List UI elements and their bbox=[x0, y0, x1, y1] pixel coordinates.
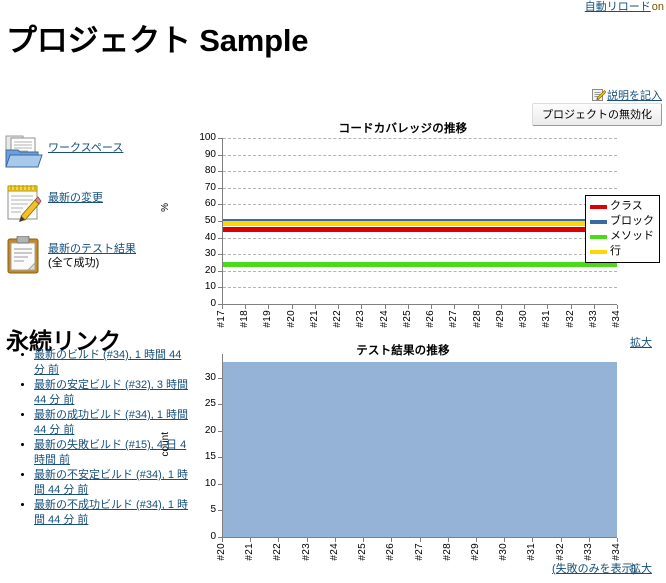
x-tick bbox=[278, 538, 279, 542]
pencil-edit-icon bbox=[592, 88, 606, 102]
x-tick bbox=[594, 305, 595, 309]
y-tick bbox=[218, 138, 222, 139]
x-tick bbox=[222, 305, 223, 309]
x-tick-label: #31 bbox=[526, 543, 537, 561]
x-tick bbox=[524, 305, 525, 309]
x-tick-label: #34 bbox=[611, 310, 622, 328]
legend-swatch-icon bbox=[590, 235, 607, 239]
auto-refresh-state: on bbox=[651, 1, 664, 13]
legend-label: ブロック bbox=[610, 214, 654, 229]
sidebar-item-recent-changes[interactable]: 最新の変更 bbox=[0, 183, 178, 228]
gridline bbox=[223, 171, 617, 172]
gridline bbox=[223, 238, 617, 239]
y-tick-label: 20 bbox=[182, 266, 216, 276]
x-tick bbox=[589, 538, 590, 542]
y-tick bbox=[218, 484, 222, 485]
recent-changes-link[interactable]: 最新の変更 bbox=[48, 192, 103, 204]
y-tick-label: 5 bbox=[182, 505, 216, 515]
y-axis-label: % bbox=[160, 203, 171, 212]
line-series-クラス bbox=[223, 227, 617, 232]
x-tick-label: #24 bbox=[379, 310, 390, 328]
x-tick bbox=[476, 538, 477, 542]
y-tick bbox=[218, 188, 222, 189]
list-item[interactable]: 最新のビルド (#34), 1 時間 44 分 前 bbox=[34, 348, 194, 377]
legend-item: メソッド bbox=[590, 229, 654, 244]
show-failures-only-link[interactable]: (失敗のみを表示) bbox=[552, 560, 636, 576]
y-tick-label: 90 bbox=[182, 150, 216, 160]
x-tick bbox=[335, 538, 336, 542]
x-tick-label: #29 bbox=[470, 543, 481, 561]
x-tick-label: #23 bbox=[301, 543, 312, 561]
x-tick-label: #31 bbox=[541, 310, 552, 328]
y-tick bbox=[218, 221, 222, 222]
y-tick bbox=[218, 271, 222, 272]
y-tick bbox=[218, 155, 222, 156]
gridline bbox=[223, 271, 617, 272]
x-tick-label: #18 bbox=[239, 310, 250, 328]
x-tick bbox=[363, 538, 364, 542]
x-tick bbox=[561, 538, 562, 542]
x-tick bbox=[361, 305, 362, 309]
x-tick-label: #25 bbox=[357, 543, 368, 561]
legend-label: メソッド bbox=[610, 229, 654, 244]
x-tick bbox=[385, 305, 386, 309]
test-result-enlarge-link[interactable]: 拡大 bbox=[630, 560, 652, 576]
x-tick bbox=[315, 305, 316, 309]
y-tick bbox=[218, 378, 222, 379]
legend-item: クラス bbox=[590, 199, 654, 214]
x-tick-label: #26 bbox=[385, 543, 396, 561]
y-tick-label: 15 bbox=[182, 452, 216, 462]
page-title: プロジェクト Sample bbox=[6, 22, 308, 60]
chart-legend: クラスブロックメソッド行 bbox=[585, 195, 660, 263]
edit-description-link[interactable]: 説明を記入 bbox=[607, 90, 662, 102]
y-tick-label: 10 bbox=[182, 282, 216, 292]
y-tick-label: 0 bbox=[182, 299, 216, 309]
x-tick bbox=[307, 538, 308, 542]
x-tick bbox=[292, 305, 293, 309]
gridline bbox=[223, 138, 617, 139]
x-tick-label: #24 bbox=[329, 543, 340, 561]
x-tick-label: #26 bbox=[425, 310, 436, 328]
area-series-count bbox=[223, 362, 617, 537]
list-item[interactable]: 最新の安定ビルド (#32), 3 時間 44 分 前 bbox=[34, 378, 194, 407]
y-tick-label: 25 bbox=[182, 399, 216, 409]
x-tick bbox=[338, 305, 339, 309]
gridline bbox=[223, 155, 617, 156]
permalink-last-stable-build[interactable]: 最新の安定ビルド (#32), 3 時間 44 分 前 bbox=[34, 379, 188, 406]
x-tick bbox=[250, 538, 251, 542]
legend-label: 行 bbox=[610, 244, 621, 259]
x-tick bbox=[617, 305, 618, 309]
y-tick-label: 0 bbox=[182, 532, 216, 542]
y-tick bbox=[218, 510, 222, 511]
x-tick bbox=[391, 538, 392, 542]
clipboard-icon bbox=[0, 234, 48, 281]
y-tick-label: 10 bbox=[182, 479, 216, 489]
gridline bbox=[223, 204, 617, 205]
legend-item: ブロック bbox=[590, 214, 654, 229]
project-dashboard-page: 自動リロードon プロジェクト Sample 説明を記入 プロジェクトの無効化 bbox=[0, 0, 666, 583]
x-tick-label: #34 bbox=[611, 543, 622, 561]
x-tick bbox=[268, 305, 269, 309]
list-item[interactable]: 最新の不安定ビルド (#34), 1 時間 44 分 前 bbox=[34, 468, 194, 497]
x-tick bbox=[431, 305, 432, 309]
x-tick-label: #21 bbox=[309, 310, 320, 328]
x-tick-label: #33 bbox=[588, 310, 599, 328]
x-tick-label: #21 bbox=[244, 543, 255, 561]
x-tick bbox=[617, 538, 618, 542]
sidebar-item-recent-changes-text: 最新の変更 bbox=[48, 183, 152, 205]
x-tick bbox=[547, 305, 548, 309]
x-tick bbox=[478, 305, 479, 309]
line-series-メソッド bbox=[223, 262, 617, 267]
y-tick bbox=[218, 404, 222, 405]
x-tick-label: #19 bbox=[262, 310, 273, 328]
x-tick-label: #20 bbox=[216, 543, 227, 561]
x-tick-label: #32 bbox=[555, 543, 566, 561]
edit-description-link-wrap: 説明を記入 bbox=[592, 88, 662, 103]
y-tick-label: 100 bbox=[182, 133, 216, 143]
y-tick-label: 50 bbox=[182, 216, 216, 226]
legend-label: クラス bbox=[610, 199, 643, 214]
list-item[interactable]: 最新の不成功ビルド (#34), 1 時間 44 分 前 bbox=[34, 498, 194, 527]
y-tick bbox=[218, 204, 222, 205]
y-tick-label: 40 bbox=[182, 233, 216, 243]
sidebar-tasks: ワークスペース bbox=[0, 133, 178, 287]
y-tick-label: 30 bbox=[182, 249, 216, 259]
y-tick bbox=[218, 457, 222, 458]
x-tick-label: #30 bbox=[498, 543, 509, 561]
auto-refresh-control: 自動リロードon bbox=[585, 1, 664, 13]
x-tick bbox=[408, 305, 409, 309]
y-tick-label: 70 bbox=[182, 183, 216, 193]
latest-test-result-link[interactable]: 最新のテスト結果 bbox=[48, 243, 136, 255]
line-series-行 bbox=[223, 221, 617, 226]
coverage-trend-chart[interactable]: コードカバレッジの推移 0102030405060708090100#17#18… bbox=[180, 120, 666, 335]
x-tick-label: #30 bbox=[518, 310, 529, 328]
y-tick bbox=[218, 431, 222, 432]
x-tick-label: #22 bbox=[272, 543, 283, 561]
y-tick-label: 30 bbox=[182, 373, 216, 383]
test-result-trend-chart[interactable]: テスト結果の推移 051015202530#20#21#22#23#24#25#… bbox=[180, 342, 666, 557]
x-tick-label: #27 bbox=[448, 310, 459, 328]
sidebar-item-latest-test-result-text: 最新のテスト結果 (全て成功) bbox=[48, 234, 152, 270]
folder-documents-icon bbox=[0, 133, 48, 176]
y-tick bbox=[218, 254, 222, 255]
x-tick bbox=[501, 305, 502, 309]
x-tick bbox=[571, 305, 572, 309]
workspace-link[interactable]: ワークスペース bbox=[48, 142, 123, 154]
y-tick bbox=[218, 287, 222, 288]
permalink-last-build[interactable]: 最新のビルド (#34), 1 時間 44 分 前 bbox=[34, 349, 181, 376]
permalink-last-unstable-build[interactable]: 最新の不安定ビルド (#34), 1 時間 44 分 前 bbox=[34, 469, 188, 496]
x-tick bbox=[420, 538, 421, 542]
x-tick bbox=[222, 538, 223, 542]
x-tick-label: #17 bbox=[216, 310, 227, 328]
sidebar-item-workspace[interactable]: ワークスペース bbox=[0, 133, 178, 177]
x-tick bbox=[245, 305, 246, 309]
legend-swatch-icon bbox=[590, 250, 607, 254]
x-tick-label: #20 bbox=[286, 310, 297, 328]
x-tick bbox=[448, 538, 449, 542]
x-tick bbox=[454, 305, 455, 309]
sidebar-item-workspace-text: ワークスペース bbox=[48, 133, 152, 155]
x-tick bbox=[532, 538, 533, 542]
gridline bbox=[223, 254, 617, 255]
y-tick bbox=[218, 238, 222, 239]
x-tick-label: #33 bbox=[583, 543, 594, 561]
y-axis-label: count bbox=[160, 432, 171, 456]
permalink-last-unsuccessful-build[interactable]: 最新の不成功ビルド (#34), 1 時間 44 分 前 bbox=[34, 499, 188, 526]
gridline bbox=[223, 287, 617, 288]
y-tick bbox=[218, 171, 222, 172]
x-tick-label: #25 bbox=[402, 310, 413, 328]
x-tick-label: #28 bbox=[442, 543, 453, 561]
x-tick-label: #23 bbox=[355, 310, 366, 328]
legend-item: 行 bbox=[590, 244, 654, 259]
x-axis-line bbox=[222, 304, 617, 305]
sidebar-item-latest-test-result[interactable]: 最新のテスト結果 (全て成功) bbox=[0, 234, 178, 281]
x-tick-label: #27 bbox=[414, 543, 425, 561]
notepad-pencil-icon bbox=[0, 183, 48, 228]
chart-plot-area: 051015202530#20#21#22#23#24#25#26#27#28#… bbox=[180, 342, 666, 557]
gridline bbox=[223, 188, 617, 189]
auto-refresh-link[interactable]: 自動リロード bbox=[585, 1, 651, 13]
y-tick-label: 60 bbox=[182, 199, 216, 209]
x-tick-label: #28 bbox=[472, 310, 483, 328]
y-tick-label: 80 bbox=[182, 166, 216, 176]
x-tick-label: #22 bbox=[332, 310, 343, 328]
latest-test-result-suffix: (全て成功) bbox=[48, 257, 99, 269]
x-tick-label: #32 bbox=[565, 310, 576, 328]
legend-swatch-icon bbox=[590, 205, 607, 209]
y-tick-label: 20 bbox=[182, 426, 216, 436]
legend-swatch-icon bbox=[590, 220, 607, 224]
x-tick bbox=[504, 538, 505, 542]
x-tick-label: #29 bbox=[495, 310, 506, 328]
